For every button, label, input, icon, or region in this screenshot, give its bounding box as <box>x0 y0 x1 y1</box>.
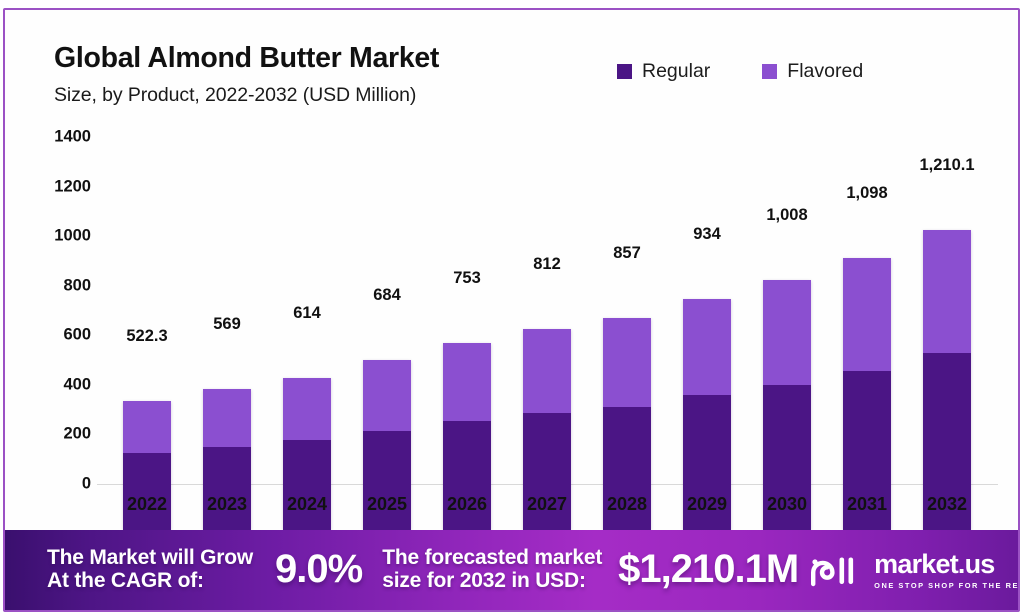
footer-banner: The Market will Grow At the CAGR of: 9.0… <box>5 530 1020 610</box>
cagr-label-line1: The Market will Grow <box>47 547 253 570</box>
bar-group[interactable] <box>907 56 987 530</box>
market-us-logo-icon <box>810 553 862 587</box>
bar-value-label: 857 <box>587 244 667 263</box>
bar-segment-flavored[interactable] <box>603 318 651 407</box>
bar-segment-flavored[interactable] <box>443 343 491 421</box>
y-axis-tick-label: 1000 <box>54 227 91 246</box>
forecast-value: $1,210.1M <box>618 548 798 591</box>
bar-group[interactable] <box>747 56 827 530</box>
bar-value-label: 753 <box>427 269 507 288</box>
y-axis-tick-label: 400 <box>63 375 91 394</box>
x-axis-tick-label: 2029 <box>667 494 747 515</box>
x-axis-tick-label: 2032 <box>907 494 987 515</box>
bar-value-label: 569 <box>187 315 267 334</box>
forecast-label: The forecasted market size for 2032 in U… <box>382 547 602 592</box>
bar-value-label: 1,098 <box>827 184 907 203</box>
bar-series-container: 522.35696146847538128579341,0081,0981,21… <box>97 10 998 530</box>
cagr-label: The Market will Grow At the CAGR of: <box>47 547 253 592</box>
x-axis-tick-label: 2030 <box>747 494 827 515</box>
bar-group[interactable] <box>587 56 667 530</box>
x-axis-tick-label: 2025 <box>347 494 427 515</box>
bar-segment-flavored[interactable] <box>203 389 251 447</box>
cagr-label-line2: At the CAGR of: <box>47 570 253 593</box>
bar-segment-flavored[interactable] <box>683 299 731 395</box>
y-axis-tick-label: 1400 <box>54 128 91 147</box>
bar-value-label: 522.3 <box>107 327 187 346</box>
y-axis: 0200400600800100012001400 <box>5 10 91 530</box>
bar-segment-flavored[interactable] <box>843 258 891 372</box>
brand-name: market.us <box>874 551 1020 578</box>
bar-group[interactable] <box>187 56 267 530</box>
bar-value-label: 812 <box>507 255 587 274</box>
bar-value-label: 1,210.1 <box>907 156 987 175</box>
bar-stack[interactable] <box>763 280 811 530</box>
bar-segment-flavored[interactable] <box>763 280 811 385</box>
bar-group[interactable] <box>507 56 587 530</box>
bar-group[interactable] <box>427 56 507 530</box>
bar-segment-flavored[interactable] <box>923 230 971 353</box>
x-axis-tick-label: 2026 <box>427 494 507 515</box>
y-axis-tick-label: 600 <box>63 326 91 345</box>
bar-value-label: 934 <box>667 225 747 244</box>
bar-group[interactable] <box>267 56 347 530</box>
bar-segment-flavored[interactable] <box>523 329 571 413</box>
bar-segment-flavored[interactable] <box>283 378 331 440</box>
forecast-label-line1: The forecasted market <box>382 547 602 570</box>
bar-segment-flavored[interactable] <box>123 401 171 453</box>
bar-value-label: 684 <box>347 286 427 305</box>
brand-text-block: market.us ONE STOP SHOP FOR THE REPORTS <box>874 551 1020 589</box>
bar-value-label: 1,008 <box>747 206 827 225</box>
bar-group[interactable] <box>667 56 747 530</box>
bar-stack[interactable] <box>843 258 891 530</box>
y-axis-tick-label: 0 <box>82 475 91 494</box>
y-axis-tick-label: 1200 <box>54 177 91 196</box>
chart-card: Global Almond Butter Market Size, by Pro… <box>3 8 1020 612</box>
x-axis-tick-label: 2028 <box>587 494 667 515</box>
bar-group[interactable] <box>827 56 907 530</box>
chart-plot-area: 0200400600800100012001400 522.3569614684… <box>5 10 1020 530</box>
bar-group[interactable] <box>107 56 187 530</box>
y-axis-tick-label: 800 <box>63 276 91 295</box>
x-axis-tick-label: 2024 <box>267 494 347 515</box>
cagr-value: 9.0% <box>275 548 362 591</box>
bar-segment-flavored[interactable] <box>363 360 411 430</box>
x-axis-tick-label: 2023 <box>187 494 267 515</box>
brand-tagline: ONE STOP SHOP FOR THE REPORTS <box>874 582 1020 589</box>
x-axis-tick-label: 2027 <box>507 494 587 515</box>
x-axis: 2022202320242025202620272028202920302031… <box>97 494 998 526</box>
brand-logo: market.us ONE STOP SHOP FOR THE REPORTS <box>810 551 1020 589</box>
y-axis-tick-label: 200 <box>63 425 91 444</box>
x-axis-tick-label: 2022 <box>107 494 187 515</box>
bar-stack[interactable] <box>923 230 971 530</box>
x-axis-tick-label: 2031 <box>827 494 907 515</box>
forecast-label-line2: size for 2032 in USD: <box>382 570 602 593</box>
chart-infographic-page: Global Almond Butter Market Size, by Pro… <box>0 0 1024 616</box>
bar-value-label: 614 <box>267 304 347 323</box>
